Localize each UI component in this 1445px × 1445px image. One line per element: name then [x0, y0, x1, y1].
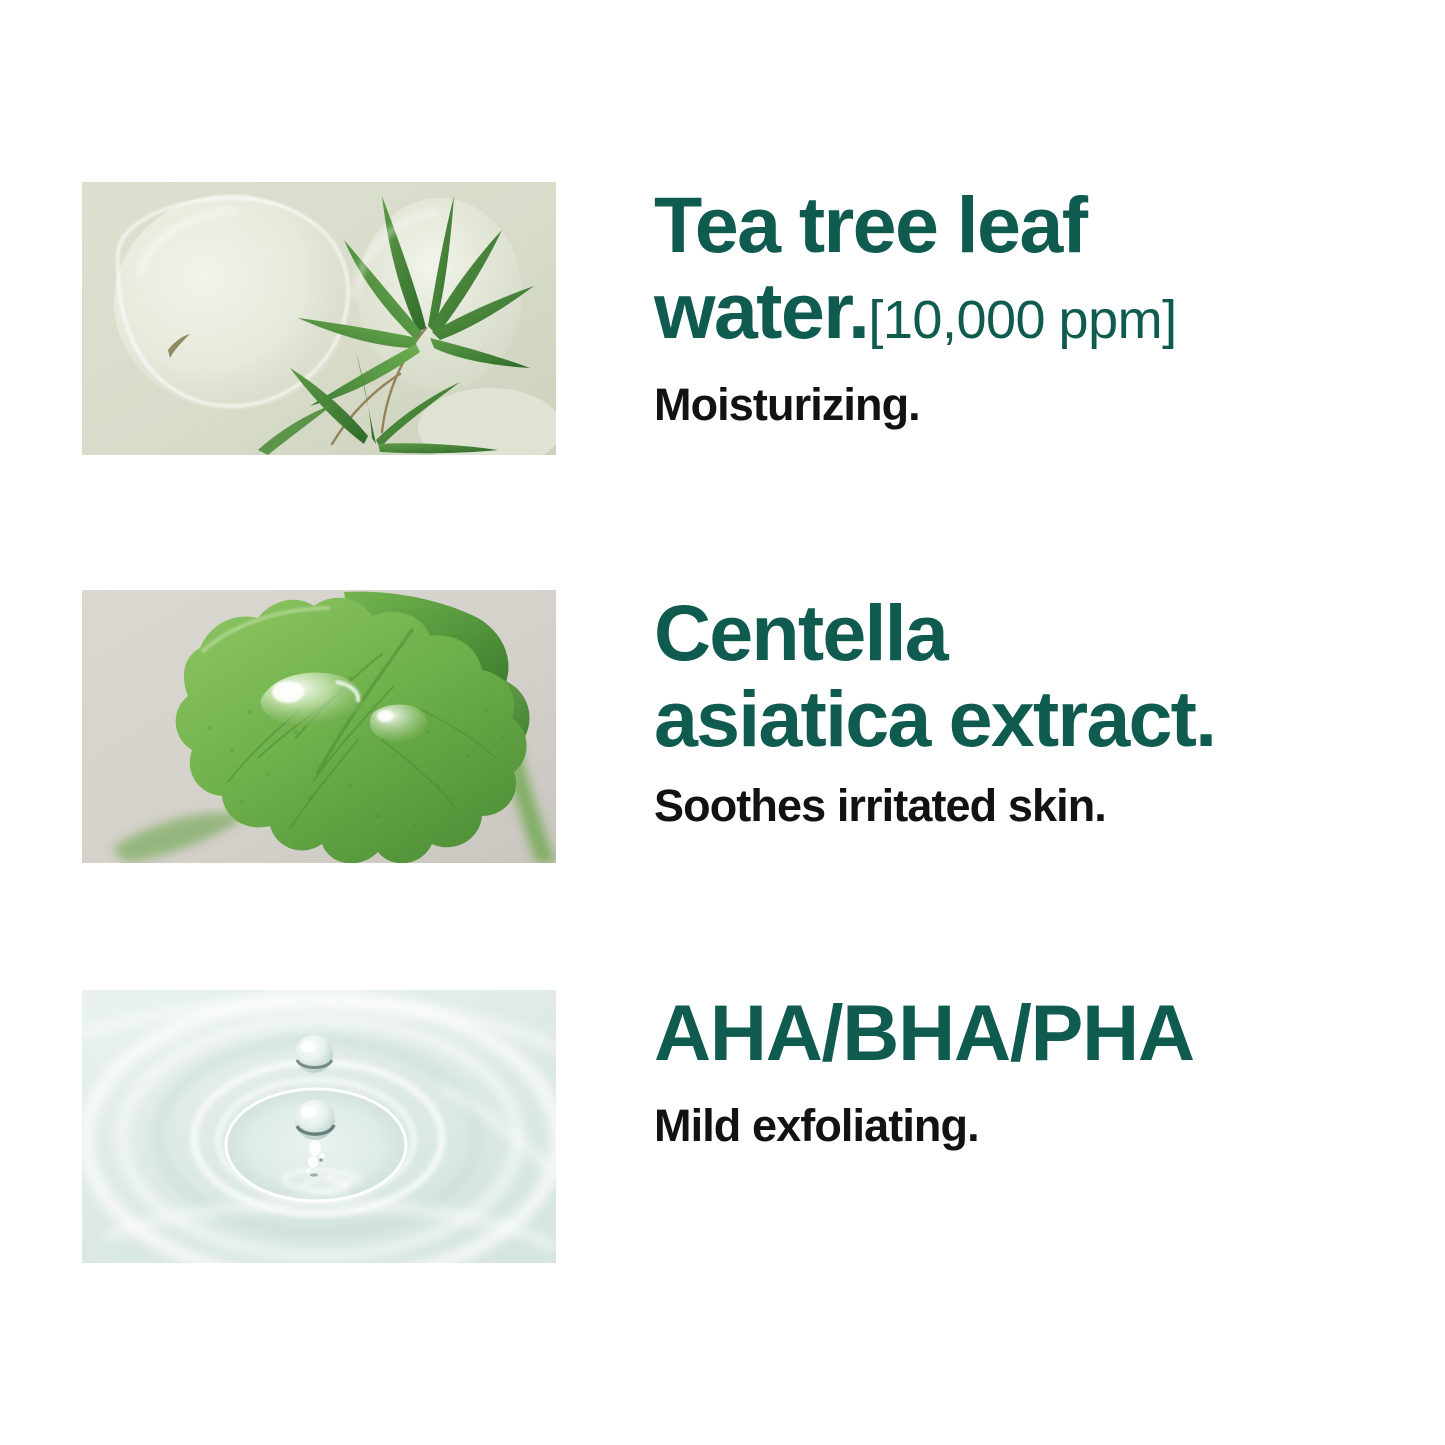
centella-text-column: Centella asiatica extract. Soothes irrit…	[654, 590, 1414, 834]
headline-line-2: asiatica extract.	[654, 676, 1414, 762]
headline-line-1: AHA/BHA/PHA	[654, 990, 1414, 1076]
ingredient-headline: Centella asiatica extract.	[654, 590, 1414, 762]
ingredient-benefit: Moisturizing.	[654, 377, 1414, 433]
headline-line-1: Centella	[654, 590, 1414, 676]
ingredient-benefit: Mild exfoliating.	[654, 1098, 1414, 1154]
centella-leaf-photo	[82, 590, 556, 863]
acids-text-column: AHA/BHA/PHA Mild exfoliating.	[654, 990, 1414, 1154]
headline-line-1: Tea tree leaf	[654, 182, 1414, 268]
ingredient-headline: AHA/BHA/PHA	[654, 990, 1414, 1076]
water-droplet-photo	[82, 990, 556, 1263]
tea-tree-text-column: Tea tree leaf water.[10,000 ppm] Moistur…	[654, 182, 1414, 433]
ingredient-infographic: Tea tree leaf water.[10,000 ppm] Moistur…	[0, 0, 1445, 1445]
ingredient-headline: Tea tree leaf water.[10,000 ppm]	[654, 182, 1414, 363]
headline-line-2: water.	[654, 266, 868, 355]
ingredient-benefit: Soothes irritated skin.	[654, 778, 1414, 834]
tea-tree-leaf-photo	[82, 182, 556, 455]
dosage-badge: [10,000 ppm]	[868, 290, 1176, 350]
